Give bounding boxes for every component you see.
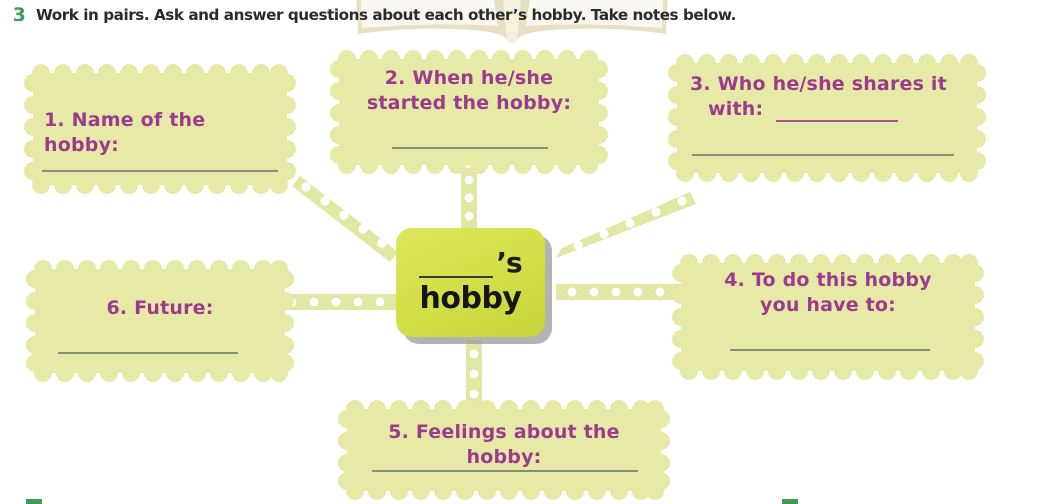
note-box-2-writing-line[interactable] bbox=[392, 147, 548, 149]
note-box-6-content: 6. Future: bbox=[26, 260, 294, 382]
note-box-4-label-line-1: 4. To do this hobby bbox=[692, 268, 964, 293]
note-box-1-content: 1. Name of the hobby: bbox=[24, 64, 296, 194]
next-exercise-marker-left bbox=[26, 499, 42, 504]
note-box-1[interactable]: 1. Name of the hobby: bbox=[24, 64, 296, 194]
next-exercise-marker-right bbox=[782, 499, 798, 504]
connector-to-box-3 bbox=[556, 192, 696, 258]
note-box-2[interactable]: 2. When he/she started the hobby: bbox=[330, 50, 608, 174]
centre-node-name-row: ’s bbox=[396, 234, 545, 278]
note-box-4-label-line-2: you have to: bbox=[692, 293, 964, 318]
note-box-2-label-line-1: 2. When he/she bbox=[344, 66, 594, 91]
note-box-5-content: 5. Feelings about the hobby: bbox=[338, 400, 670, 500]
note-box-5[interactable]: 5. Feelings about the hobby: bbox=[338, 400, 670, 500]
connector-to-box-6 bbox=[276, 294, 398, 310]
note-box-2-label-line-2: started the hobby: bbox=[344, 91, 594, 116]
note-box-3-writing-line[interactable] bbox=[692, 154, 954, 156]
mind-map-centre-node[interactable]: ’s hobby bbox=[396, 228, 552, 344]
note-box-6-label: 6. Future: bbox=[40, 296, 280, 321]
note-box-6[interactable]: 6. Future: bbox=[26, 260, 294, 382]
centre-node-possessive: ’s bbox=[496, 248, 521, 278]
connector-to-box-4 bbox=[556, 284, 688, 300]
note-box-4-writing-line[interactable] bbox=[730, 349, 930, 351]
centre-node-name-blank[interactable] bbox=[419, 246, 493, 278]
note-box-4-content: 4. To do this hobby you have to: bbox=[672, 254, 984, 380]
exercise-instruction: Work in pairs. Ask and answer questions … bbox=[36, 4, 736, 26]
note-box-4[interactable]: 4. To do this hobby you have to: bbox=[672, 254, 984, 380]
note-box-3-inline-blank[interactable] bbox=[776, 120, 898, 122]
exercise-number-badge: 3 bbox=[8, 4, 30, 26]
exercise-header: 3 Work in pairs. Ask and answer question… bbox=[0, 0, 1050, 34]
connector-to-box-2 bbox=[461, 168, 477, 234]
note-box-3-label-line-2: with: bbox=[708, 97, 828, 122]
note-box-6-writing-line[interactable] bbox=[58, 352, 238, 354]
centre-node-face: ’s hobby bbox=[396, 228, 545, 337]
note-box-1-label: 1. Name of the hobby: bbox=[44, 108, 284, 158]
centre-node-word: hobby bbox=[396, 280, 545, 318]
note-box-5-writing-line[interactable] bbox=[372, 470, 638, 472]
note-box-2-content: 2. When he/she started the hobby: bbox=[330, 50, 608, 174]
note-box-3[interactable]: 3. Who he/she shares it with: bbox=[668, 54, 986, 182]
note-box-3-label-line-1: 3. Who he/she shares it bbox=[690, 72, 976, 97]
note-box-3-content: 3. Who he/she shares it with: bbox=[668, 54, 986, 182]
note-box-5-label: 5. Feelings about the hobby: bbox=[354, 420, 654, 470]
connector-to-box-1 bbox=[292, 176, 398, 262]
note-box-1-writing-line[interactable] bbox=[42, 170, 278, 172]
